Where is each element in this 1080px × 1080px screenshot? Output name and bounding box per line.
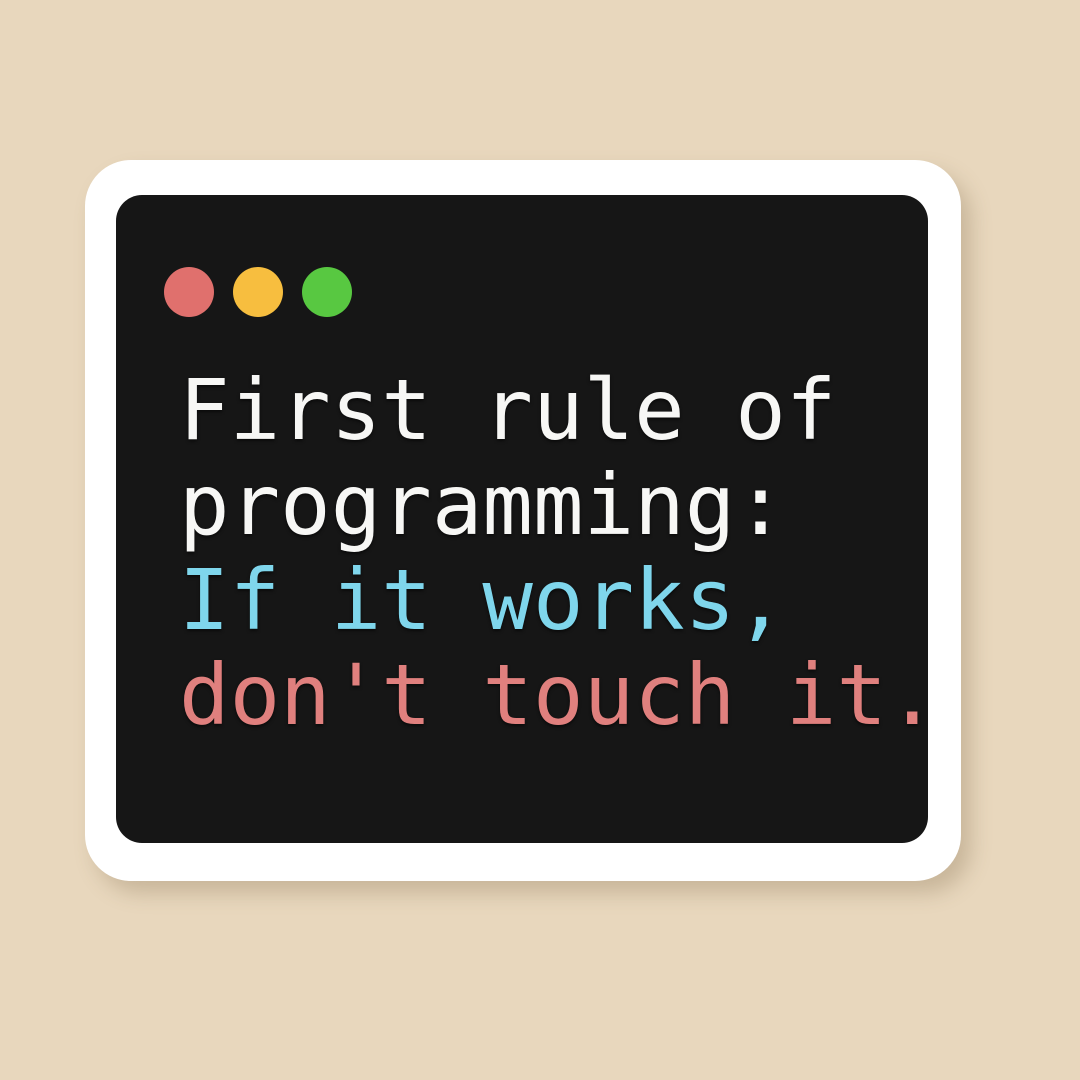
quote-line-4: don't touch it. xyxy=(179,648,919,743)
sticker-frame: First rule of programming: If it works, … xyxy=(85,160,961,881)
quote-line-2: programming: xyxy=(179,458,919,553)
quote-text-block: First rule of programming: If it works, … xyxy=(179,363,919,743)
sticker-canvas: First rule of programming: If it works, … xyxy=(0,0,1080,1080)
quote-line-1: First rule of xyxy=(179,363,919,458)
maximize-dot[interactable] xyxy=(302,267,352,317)
minimize-dot[interactable] xyxy=(233,267,283,317)
window-controls xyxy=(164,267,352,317)
quote-line-3: If it works, xyxy=(179,553,919,648)
terminal-window: First rule of programming: If it works, … xyxy=(116,195,928,843)
close-dot[interactable] xyxy=(164,267,214,317)
